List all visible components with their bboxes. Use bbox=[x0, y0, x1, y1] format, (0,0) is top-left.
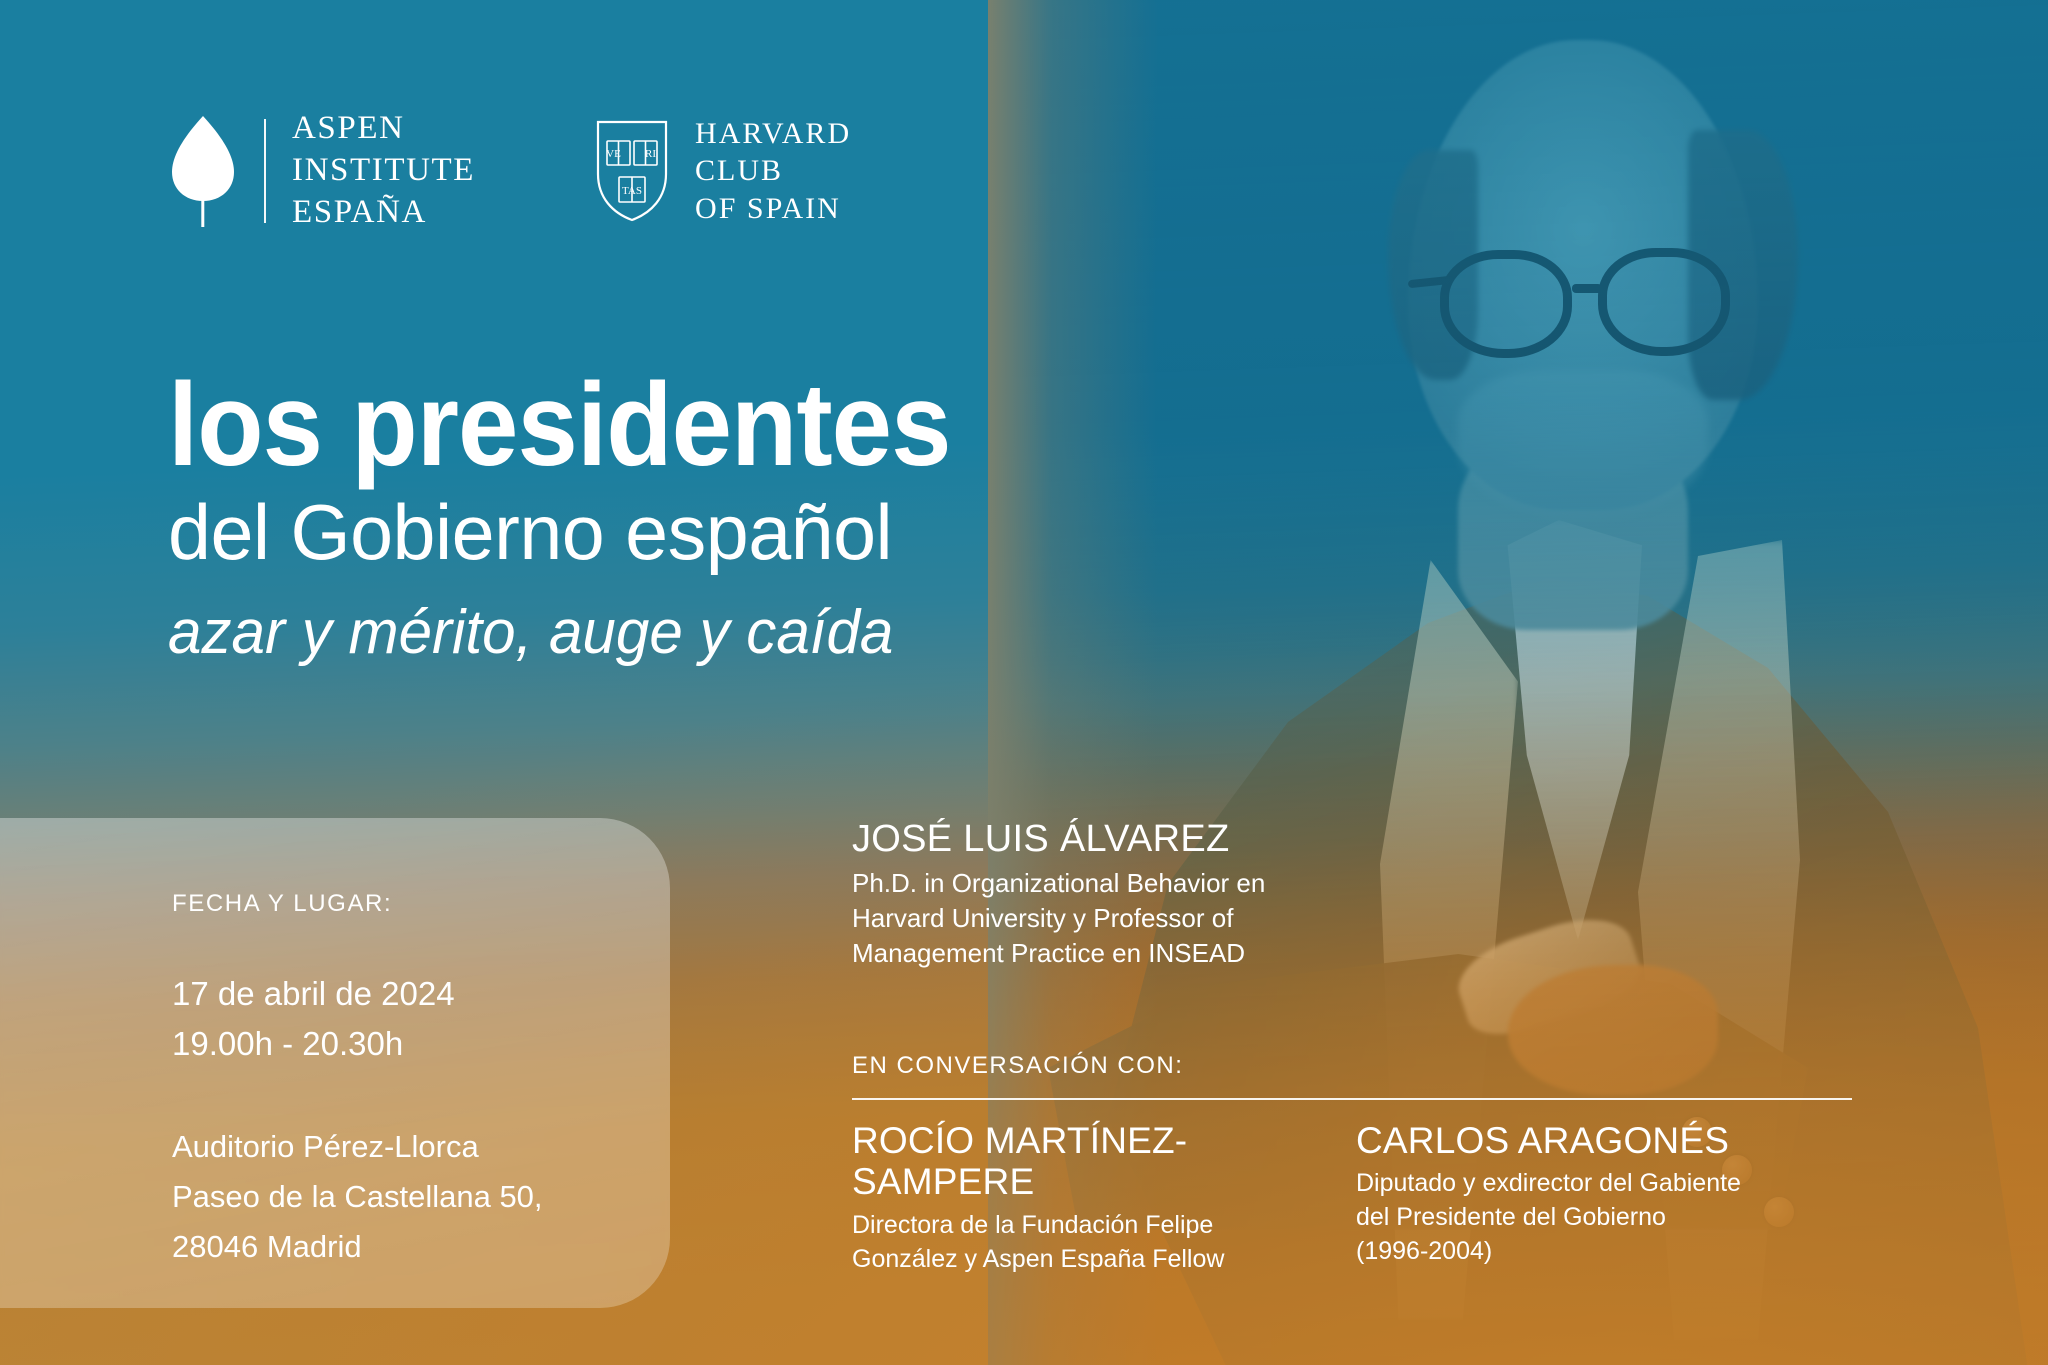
poster-title-italic: azar y mérito, auge y caída bbox=[168, 599, 993, 667]
aspen-line-2: INSTITUTE bbox=[292, 150, 475, 192]
harvard-line-1: HARVARD bbox=[695, 115, 851, 153]
harvard-line-2: CLUB bbox=[695, 152, 851, 190]
participant-rocio-name-line-1: ROCÍO MARTÍNEZ- bbox=[852, 1120, 1292, 1161]
participant-rocio-role-line-2: González y Aspen España Fellow bbox=[852, 1242, 1292, 1276]
conversation-divider bbox=[852, 1098, 1852, 1100]
participant-carlos-name-line-1: CARLOS ARAGONÉS bbox=[1356, 1120, 1876, 1161]
harvard-shield-icon: VE RI TAS bbox=[593, 119, 671, 223]
participant-rocio-name: ROCÍO MARTÍNEZ- SAMPERE bbox=[852, 1120, 1292, 1203]
main-speaker-role-line-3: Management Practice en INSEAD bbox=[852, 936, 1902, 971]
conversation-participants: ROCÍO MARTÍNEZ- SAMPERE Directora de la … bbox=[852, 1120, 1902, 1276]
participant-carlos-role-line-3: (1996-2004) bbox=[1356, 1234, 1876, 1268]
event-time: 19.00h - 20.30h bbox=[172, 1019, 543, 1069]
title-block: los presidentes del Gobierno español aza… bbox=[168, 368, 1019, 667]
venue-name: Auditorio Pérez-Llorca bbox=[172, 1122, 543, 1172]
participant-rocio-name-line-2: SAMPERE bbox=[852, 1161, 1292, 1202]
info-card-label: FECHA Y LUGAR: bbox=[172, 888, 543, 919]
participant-rocio: ROCÍO MARTÍNEZ- SAMPERE Directora de la … bbox=[852, 1120, 1292, 1276]
event-venue: Auditorio Pérez-Llorca Paseo de la Caste… bbox=[172, 1122, 543, 1273]
participant-rocio-role: Directora de la Fundación Felipe Gonzále… bbox=[852, 1208, 1292, 1276]
logo-header: ASPEN INSTITUTE ESPAÑA VE RI bbox=[168, 108, 851, 234]
aspen-line-3: ESPAÑA bbox=[292, 192, 475, 234]
svg-text:TAS: TAS bbox=[622, 185, 642, 197]
harvard-club-logo: VE RI TAS HARVARD CLUB OF SPAIN bbox=[593, 115, 851, 228]
date-location-card: FECHA Y LUGAR: 17 de abril de 2024 19.00… bbox=[0, 818, 670, 1308]
aspen-wordmark: ASPEN INSTITUTE ESPAÑA bbox=[292, 108, 475, 234]
event-datetime: 17 de abril de 2024 19.00h - 20.30h bbox=[172, 969, 543, 1069]
main-speaker: JOSÉ LUIS ÁLVAREZ Ph.D. in Organizationa… bbox=[852, 818, 1902, 972]
svg-text:VE: VE bbox=[606, 148, 621, 160]
aspen-line-1: ASPEN bbox=[292, 108, 475, 150]
aspen-leaf-icon bbox=[168, 113, 238, 229]
logo-divider bbox=[264, 119, 266, 223]
harvard-line-3: OF SPAIN bbox=[695, 190, 851, 228]
aspen-institute-logo: ASPEN INSTITUTE ESPAÑA bbox=[168, 108, 475, 234]
harvard-wordmark: HARVARD CLUB OF SPAIN bbox=[695, 115, 851, 228]
main-speaker-name: JOSÉ LUIS ÁLVAREZ bbox=[852, 818, 1902, 861]
participant-carlos-name: CARLOS ARAGONÉS bbox=[1356, 1120, 1876, 1161]
participant-carlos-role: Diputado y exdirector del Gabiente del P… bbox=[1356, 1166, 1876, 1268]
speakers-block: JOSÉ LUIS ÁLVAREZ Ph.D. in Organizationa… bbox=[852, 818, 1902, 1276]
participant-carlos-role-line-2: del Presidente del Gobierno bbox=[1356, 1200, 1876, 1234]
participant-rocio-role-line-1: Directora de la Fundación Felipe bbox=[852, 1208, 1292, 1242]
svg-text:RI: RI bbox=[645, 148, 656, 160]
poster-title-sub: del Gobierno español bbox=[168, 490, 1010, 574]
main-speaker-role-line-2: Harvard University y Professor of bbox=[852, 901, 1902, 936]
event-date: 17 de abril de 2024 bbox=[172, 969, 543, 1019]
venue-street: Paseo de la Castellana 50, bbox=[172, 1172, 543, 1222]
participant-carlos: CARLOS ARAGONÉS Diputado y exdirector de… bbox=[1356, 1120, 1876, 1276]
main-speaker-role-line-1: Ph.D. in Organizational Behavior en bbox=[852, 866, 1902, 901]
participant-carlos-role-line-1: Diputado y exdirector del Gabiente bbox=[1356, 1166, 1876, 1200]
poster-title-main: los presidentes bbox=[168, 368, 951, 482]
conversation-label: EN CONVERSACIÓN CON: bbox=[852, 1052, 1902, 1080]
event-poster: ASPEN INSTITUTE ESPAÑA VE RI bbox=[0, 0, 2048, 1365]
venue-city: 28046 Madrid bbox=[172, 1222, 543, 1272]
main-speaker-role: Ph.D. in Organizational Behavior en Harv… bbox=[852, 866, 1902, 972]
